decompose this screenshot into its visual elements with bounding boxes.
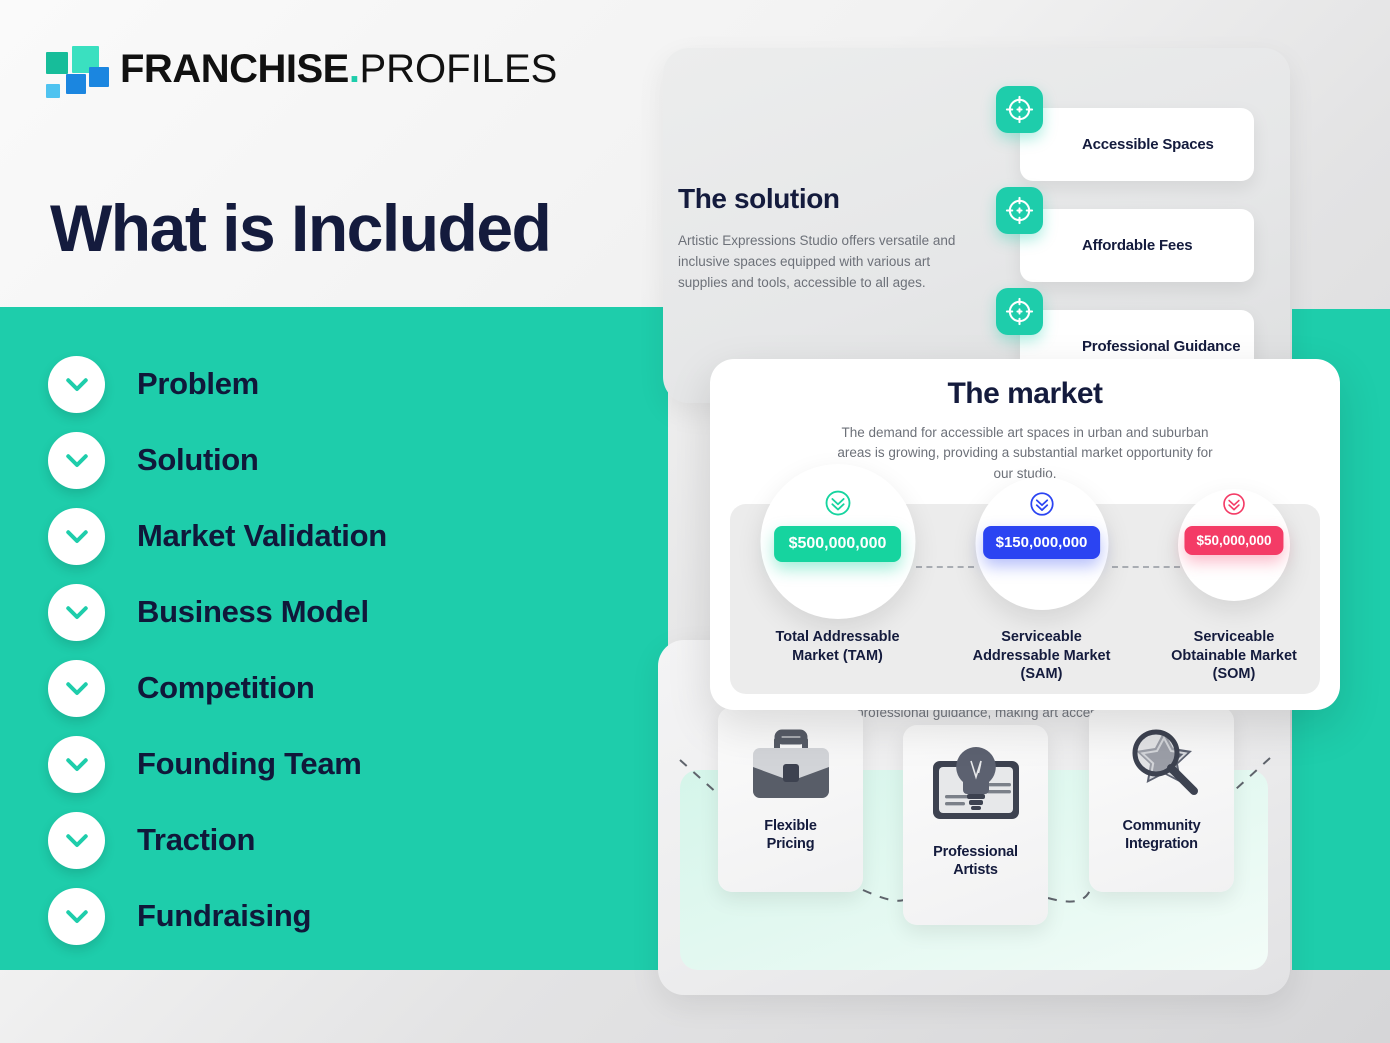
solution-feature-label: Affordable Fees	[1082, 237, 1192, 254]
list-item[interactable]: Problem	[48, 346, 648, 422]
chevron-down-icon[interactable]	[48, 508, 105, 565]
solution-feature-box[interactable]: Affordable Fees	[1020, 209, 1254, 282]
solution-header: The solution Artistic Expressions Studio…	[678, 183, 968, 294]
list-item[interactable]: Competition	[48, 650, 648, 726]
market-card: The market The demand for accessible art…	[710, 359, 1340, 710]
magnifier-award-icon	[1114, 725, 1210, 811]
briefcase-icon	[745, 725, 837, 811]
traction-item-label: Flexible Pricing	[764, 817, 816, 853]
brand-name-light: PROFILES	[359, 47, 557, 91]
market-segment-value: $150,000,000	[983, 526, 1101, 559]
lightbulb-presentation-icon	[927, 743, 1025, 829]
list-item-label: Traction	[137, 822, 255, 858]
market-segment-value: $50,000,000	[1184, 526, 1283, 555]
market-connector-dash	[916, 566, 974, 568]
traction-item[interactable]: Professional Artists	[903, 725, 1048, 925]
page-title: What is Included	[50, 190, 550, 266]
list-item-label: Problem	[137, 366, 259, 402]
double-chevron-down-icon	[1028, 490, 1056, 523]
chevron-down-icon[interactable]	[48, 584, 105, 641]
list-item[interactable]: Solution	[48, 422, 648, 498]
market-connector-dash	[1112, 566, 1180, 568]
crosshair-icon	[996, 288, 1043, 335]
solution-card: The solution Artistic Expressions Studio…	[663, 48, 1290, 403]
chevron-down-icon[interactable]	[48, 888, 105, 945]
chevron-down-icon[interactable]	[48, 812, 105, 869]
market-segment-name: Serviceable Obtainable Market (SOM)	[1171, 628, 1297, 684]
traction-item[interactable]: Flexible Pricing	[718, 707, 863, 892]
double-chevron-down-icon	[823, 488, 853, 523]
market-segment-name: Serviceable Addressable Market (SAM)	[973, 628, 1111, 684]
list-item[interactable]: Traction	[48, 802, 648, 878]
list-item-label: Solution	[137, 442, 259, 478]
agenda-list: Problem Solution Market Validation Busin…	[48, 346, 648, 954]
brand-logo: FRANCHISE.PROFILES	[44, 44, 557, 94]
traction-item-label: Professional Artists	[933, 843, 1018, 879]
crosshair-icon	[996, 187, 1043, 234]
crosshair-icon	[996, 86, 1043, 133]
brand-name-dot: .	[349, 47, 360, 91]
chevron-down-icon[interactable]	[48, 432, 105, 489]
list-item-label: Fundraising	[137, 898, 311, 934]
double-chevron-down-icon	[1221, 491, 1247, 522]
market-description: The demand for accessible art spaces in …	[830, 423, 1220, 484]
solution-feature-box[interactable]: Accessible Spaces	[1020, 108, 1254, 181]
market-segment-value: $500,000,000	[774, 526, 902, 562]
list-item-label: Founding Team	[137, 746, 362, 782]
traction-item[interactable]: Community Integration	[1089, 707, 1234, 892]
solution-description: Artistic Expressions Studio offers versa…	[678, 231, 968, 294]
list-item[interactable]: Market Validation	[48, 498, 648, 574]
brand-wordmark: FRANCHISE.PROFILES	[120, 47, 557, 92]
list-item-label: Market Validation	[137, 518, 387, 554]
list-item[interactable]: Fundraising	[48, 878, 648, 954]
market-chart: $500,000,000 Total Addressable Market (T…	[730, 504, 1320, 694]
market-title: The market	[710, 377, 1340, 411]
chevron-down-icon[interactable]	[48, 356, 105, 413]
logo-squares-icon	[44, 44, 104, 94]
brand-name-bold: FRANCHISE	[120, 47, 349, 91]
chevron-down-icon[interactable]	[48, 736, 105, 793]
list-item-label: Competition	[137, 670, 315, 706]
list-item[interactable]: Founding Team	[48, 726, 648, 802]
chevron-down-icon[interactable]	[48, 660, 105, 717]
market-segment-name: Total Addressable Market (TAM)	[775, 628, 899, 665]
solution-title: The solution	[678, 183, 968, 215]
list-item[interactable]: Business Model	[48, 574, 648, 650]
solution-feature-label: Accessible Spaces	[1082, 136, 1214, 153]
traction-item-label: Community Integration	[1123, 817, 1201, 853]
list-item-label: Business Model	[137, 594, 369, 630]
solution-feature-label: Professional Guidance	[1082, 338, 1240, 355]
